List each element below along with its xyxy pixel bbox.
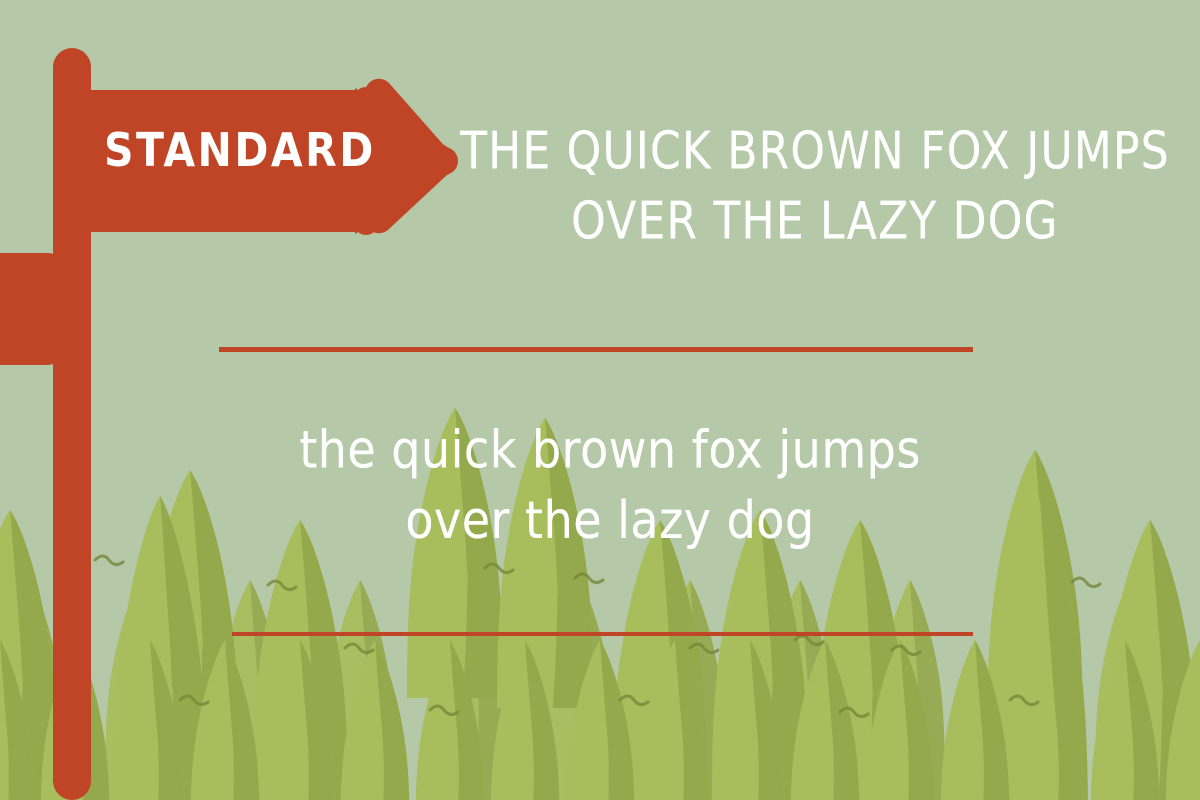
lowercase-specimen-text: the quick brown fox jumps over the lazy … [235,415,985,557]
lowercase-line-2: over the lazy dog [235,486,985,557]
divider-rule-bottom [232,632,973,636]
signpost-left-plate [0,253,62,365]
uppercase-line-1: THE QUICK BROWN FOX JUMPS [460,118,1170,187]
lowercase-line-1: the quick brown fox jumps [235,415,985,486]
divider-rule-top [219,347,973,352]
signpost-graphic [0,0,470,800]
font-specimen-canvas: STANDARD THE QUICK BROWN FOX JUMPS OVER … [0,0,1200,800]
uppercase-specimen-text: THE QUICK BROWN FOX JUMPS OVER THE LAZY … [460,118,1170,256]
uppercase-line-2: OVER THE LAZY DOG [460,187,1170,256]
signpost-label: STANDARD [104,128,374,174]
